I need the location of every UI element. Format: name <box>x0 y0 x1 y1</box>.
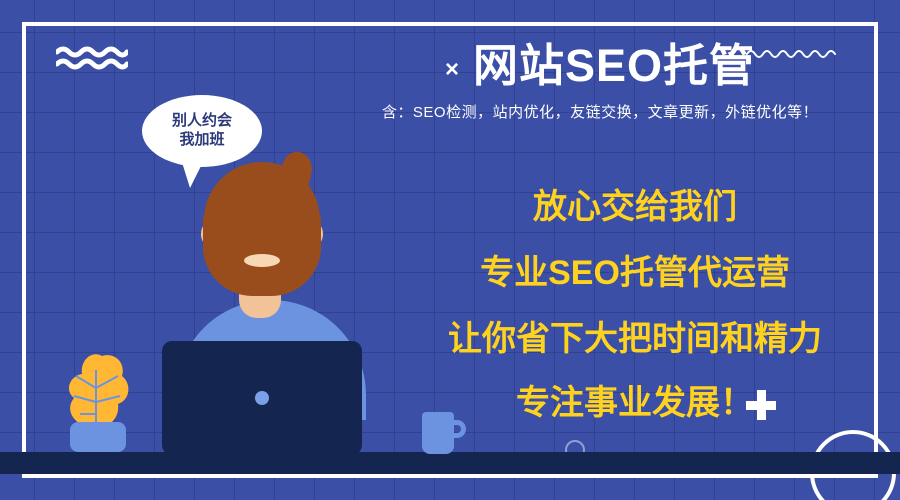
headline-block: × 网站SEO托管 含：SEO检测，站内优化，友链交换，文章更新，外链优化等！ <box>330 42 870 122</box>
slogan-line-1: 放心交给我们 <box>400 190 870 224</box>
potted-plant <box>60 350 134 454</box>
plant-leaf-icon <box>60 350 134 430</box>
page-subtitle: 含：SEO检测，站内优化，友链交换，文章更新，外链优化等！ <box>330 101 870 122</box>
double-wave-icon <box>56 46 128 70</box>
speech-bubble: 别人约会 我加班 <box>142 95 262 167</box>
coffee-mug <box>422 412 462 454</box>
plant-pot <box>70 422 126 452</box>
speech-bubble-line-2: 我加班 <box>179 131 224 150</box>
poster-canvas: × 网站SEO托管 含：SEO检测，站内优化，友链交换，文章更新，外链优化等！ … <box>0 0 900 500</box>
slogan-line-4: 专注事业发展！ <box>400 386 870 420</box>
desk-surface <box>0 452 900 474</box>
slogan-block: 放心交给我们 专业SEO托管代运营 让你省下大把时间和精力 专注事业发展！ <box>400 190 870 420</box>
laptop <box>162 341 362 455</box>
laptop-logo-icon <box>255 391 269 405</box>
slogan-line-2: 专业SEO托管代运营 <box>400 256 870 290</box>
page-title: 网站SEO托管 <box>473 42 755 89</box>
x-bullet-icon: × <box>445 58 459 82</box>
title-row: × 网站SEO托管 <box>330 42 870 89</box>
character-mouth <box>244 254 280 267</box>
slogan-line-3: 让你省下大把时间和精力 <box>400 322 870 356</box>
speech-bubble-line-1: 别人约会 <box>172 112 232 131</box>
